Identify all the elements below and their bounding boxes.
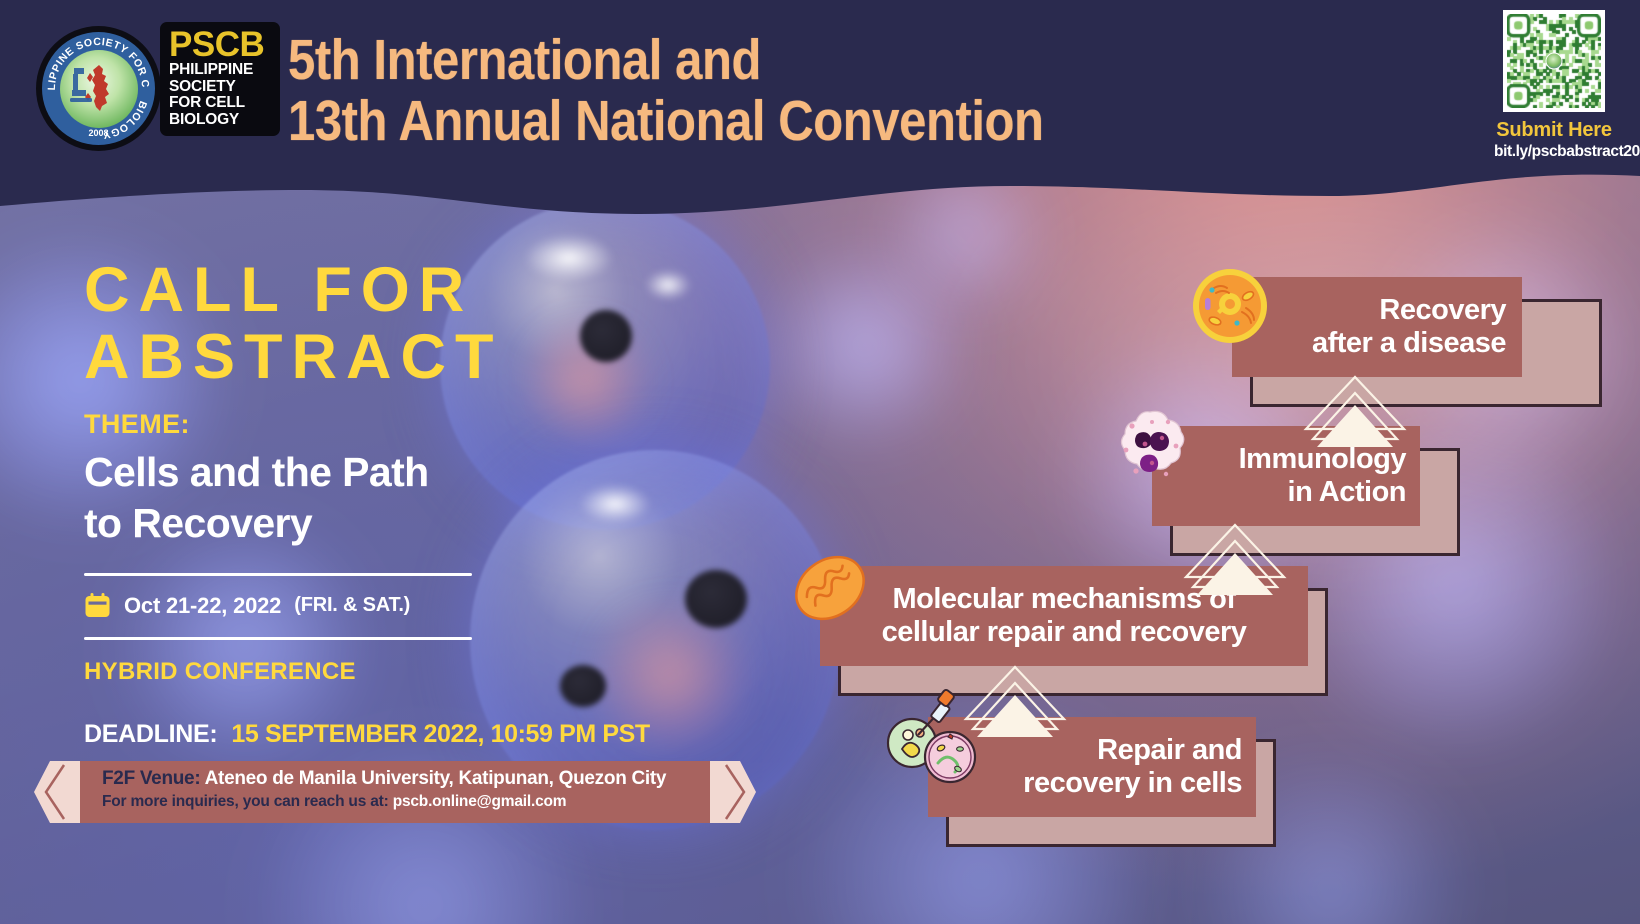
topic-label-line-2: cellular repair and recovery [834, 616, 1294, 649]
topic-card-label: Molecular mechanisms of cellular repair … [834, 583, 1294, 650]
topic-card-label: Recovery after a disease [1244, 294, 1506, 361]
event-date: Oct 21-22, 2022 [124, 593, 281, 619]
divider-rule-bottom [84, 637, 472, 640]
conference-type-label: HYBRID CONFERENCE [84, 658, 356, 686]
event-days: (FRI. & SAT.) [294, 594, 410, 617]
topic-card-recovery-after-disease: Recovery after a disease [1232, 277, 1584, 389]
deadline-label: DEADLINE: [84, 720, 217, 749]
poster-canvas: PHILIPPINE SOCIETY FOR CELL BIOLOGY [0, 0, 1640, 924]
topic-card-body: Molecular mechanisms of cellular repair … [820, 566, 1308, 666]
topic-card-body: Immunology in Action [1152, 426, 1420, 526]
qr-center-logo-icon [1546, 53, 1563, 70]
calendar-icon [84, 592, 111, 619]
call-line-2: ABSTRACT [84, 324, 502, 391]
topic-card-immunology-in-action: Immunology in Action [1152, 426, 1452, 538]
topic-card-repair-recovery-cells: Repair and recovery in cells [928, 717, 1268, 829]
inquiries-label: For more inquiries, you can reach us at: [102, 793, 389, 810]
left-content-column: CALL FOR ABSTRACT THEME: Cells and the P… [0, 0, 820, 924]
venue-label: F2F Venue: [102, 768, 200, 789]
qr-submit-block[interactable]: Submit Here bit.ly/pscbabstract2022 [1494, 10, 1614, 161]
theme-label: THEME: [84, 409, 190, 440]
submit-url[interactable]: bit.ly/pscbabstract2022 [1494, 143, 1614, 161]
venue-value: Ateneo de Manila University, Katipunan, … [205, 768, 667, 789]
topic-label-line-1: Molecular mechanisms of [834, 583, 1294, 616]
venue-line: F2F Venue: Ateneo de Manila University, … [102, 768, 696, 790]
topic-label-line-2: after a disease [1244, 327, 1506, 360]
arrow-right-decoration-icon [710, 761, 756, 823]
mitochondria-icon [790, 548, 870, 628]
event-date-row: Oct 21-22, 2022 (FRI. & SAT.) [84, 592, 410, 619]
topic-card-label: Immunology in Action [1162, 443, 1406, 510]
white-blood-cell-icon [1110, 408, 1190, 488]
venue-banner: F2F Venue: Ateneo de Manila University, … [34, 761, 756, 823]
theme-line-1: Cells and the Path [84, 447, 429, 498]
theme-line-2: to Recovery [84, 498, 429, 549]
inquiries-email[interactable]: pscb.online@gmail.com [393, 793, 567, 810]
topic-card-molecular-mechanisms: Molecular mechanisms of cellular repair … [820, 566, 1320, 678]
topic-label-line-1: Recovery [1244, 294, 1506, 327]
qr-code[interactable] [1503, 10, 1605, 112]
venue-band: F2F Venue: Ateneo de Manila University, … [80, 761, 710, 823]
animal-cell-icon [1190, 266, 1270, 346]
submit-here-label: Submit Here [1494, 119, 1614, 142]
divider-rule-top [84, 573, 472, 576]
call-for-abstract-heading: CALL FOR ABSTRACT [84, 257, 502, 392]
call-line-1: CALL FOR [84, 257, 502, 324]
inquiries-line: For more inquiries, you can reach us at:… [102, 793, 696, 811]
deadline-row: DEADLINE: 15 SEPTEMBER 2022, 10:59 PM PS… [84, 720, 650, 749]
topic-card-body: Recovery after a disease [1232, 277, 1522, 377]
theme-text: Cells and the Path to Recovery [84, 447, 429, 550]
deadline-value: 15 SEPTEMBER 2022, 10:59 PM PST [231, 720, 649, 749]
arrow-left-decoration-icon [34, 761, 80, 823]
topic-label-line-1: Immunology [1162, 443, 1406, 476]
topic-label-line-2: in Action [1162, 476, 1406, 509]
petri-dish-dropper-icon [878, 687, 988, 797]
